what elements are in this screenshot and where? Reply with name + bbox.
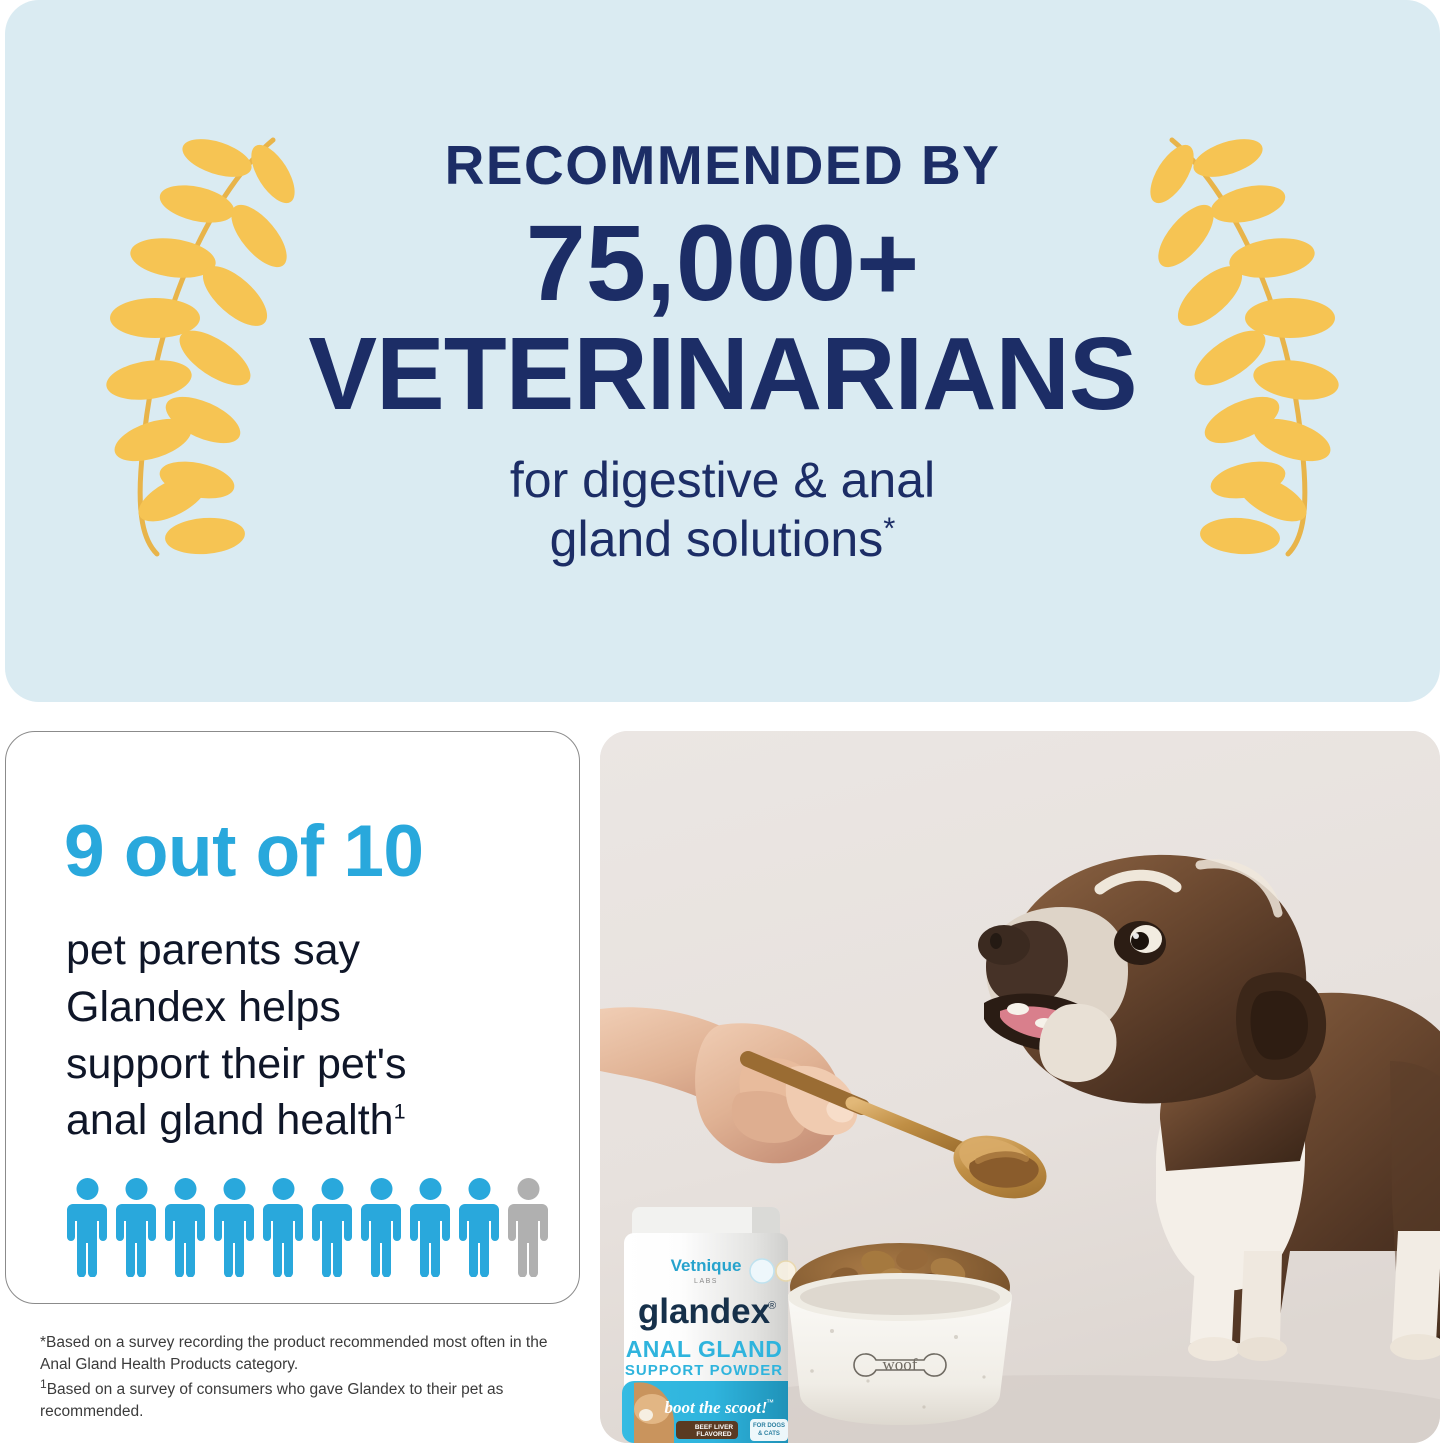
bottle-line2-text: SUPPORT POWDER <box>625 1362 783 1379</box>
bottle-side-badge-line1: FOR DOGS <box>753 1423 785 1429</box>
product-lifestyle-photo: Vetnique LABS glandex ® ANAL GLAND SUPPO… <box>600 731 1440 1443</box>
subheadline-line-1: for digestive & anal <box>510 452 935 508</box>
footnote-line-2: 1Based on a survey of consumers who gave… <box>40 1376 560 1423</box>
subheadline-footnote-marker: * <box>883 510 895 545</box>
headline-kicker: RECOMMENDED BY <box>5 137 1440 195</box>
people-pictogram-row <box>66 1177 550 1277</box>
bottle-product-name: glandex <box>638 1292 771 1331</box>
bowl-woof-text: woof <box>883 1355 918 1374</box>
person-icon-1 <box>66 1177 109 1277</box>
bottle-tagline-mark: ™ <box>766 1398 774 1407</box>
person-icon-6 <box>311 1177 354 1277</box>
banner-text-block: RECOMMENDED BY 75,000+ VETERINARIANS for… <box>5 133 1440 569</box>
bottle-tagline-text: boot the scoot! <box>665 1398 768 1417</box>
footnote-2-text: Based on a survey of consumers who gave … <box>40 1381 503 1420</box>
headline-number: 75,000+ <box>5 203 1440 324</box>
recommended-by-banner: RECOMMENDED BY 75,000+ VETERINARIANS for… <box>5 0 1440 702</box>
stat-footnote-marker: 1 <box>394 1100 406 1124</box>
dog-food-bowl: woof <box>788 1243 1012 1425</box>
person-icon-5 <box>262 1177 305 1277</box>
person-icon-9 <box>458 1177 501 1277</box>
bottle-flavor-line1: BEEF LIVER <box>695 1424 734 1431</box>
person-icon-2 <box>115 1177 158 1277</box>
person-icon-4 <box>213 1177 256 1277</box>
marketing-infographic: RECOMMENDED BY 75,000+ VETERINARIANS for… <box>0 0 1445 1443</box>
stat-card: 9 out of 10 pet parents say Glandex help… <box>5 731 580 1304</box>
footnote-2-marker: 1 <box>40 1377 47 1391</box>
stat-body-line-1: pet parents say <box>66 926 360 974</box>
person-icon-8 <box>409 1177 452 1277</box>
bottle-registered-mark: ® <box>768 1300 776 1312</box>
bottle-brand-text: Vetnique <box>671 1256 742 1275</box>
bottle-flavor-line2: FLAVORED <box>696 1431 732 1438</box>
footnote-line-1: *Based on a survey recording the product… <box>40 1332 560 1376</box>
headline-audience: VETERINARIANS <box>5 324 1440 425</box>
subheadline-line-2: gland solutions <box>550 511 884 567</box>
stat-body-line-4: anal gland health <box>66 1096 394 1144</box>
stat-body-line-3: support their pet's <box>66 1040 406 1088</box>
bottle-line1-text: ANAL GLAND <box>626 1336 783 1362</box>
stat-body-text: pet parents say Glandex helps support th… <box>66 922 546 1149</box>
stat-headline: 9 out of 10 <box>64 815 424 888</box>
person-icon-7 <box>360 1177 403 1277</box>
bottle-side-badge-line2: & CATS <box>758 1431 780 1437</box>
photo-illustration: Vetnique LABS glandex ® ANAL GLAND SUPPO… <box>600 731 1440 1443</box>
person-icon-10-inactive <box>507 1177 550 1277</box>
glandex-bottle: Vetnique LABS glandex ® ANAL GLAND SUPPO… <box>622 1207 796 1443</box>
footnotes-block: *Based on a survey recording the product… <box>40 1332 560 1423</box>
banner-subheadline: for digestive & anal gland solutions* <box>5 451 1440 569</box>
stat-body-line-2: Glandex helps <box>66 983 341 1031</box>
person-icon-3 <box>164 1177 207 1277</box>
bottle-brand-sub-text: LABS <box>694 1278 718 1285</box>
